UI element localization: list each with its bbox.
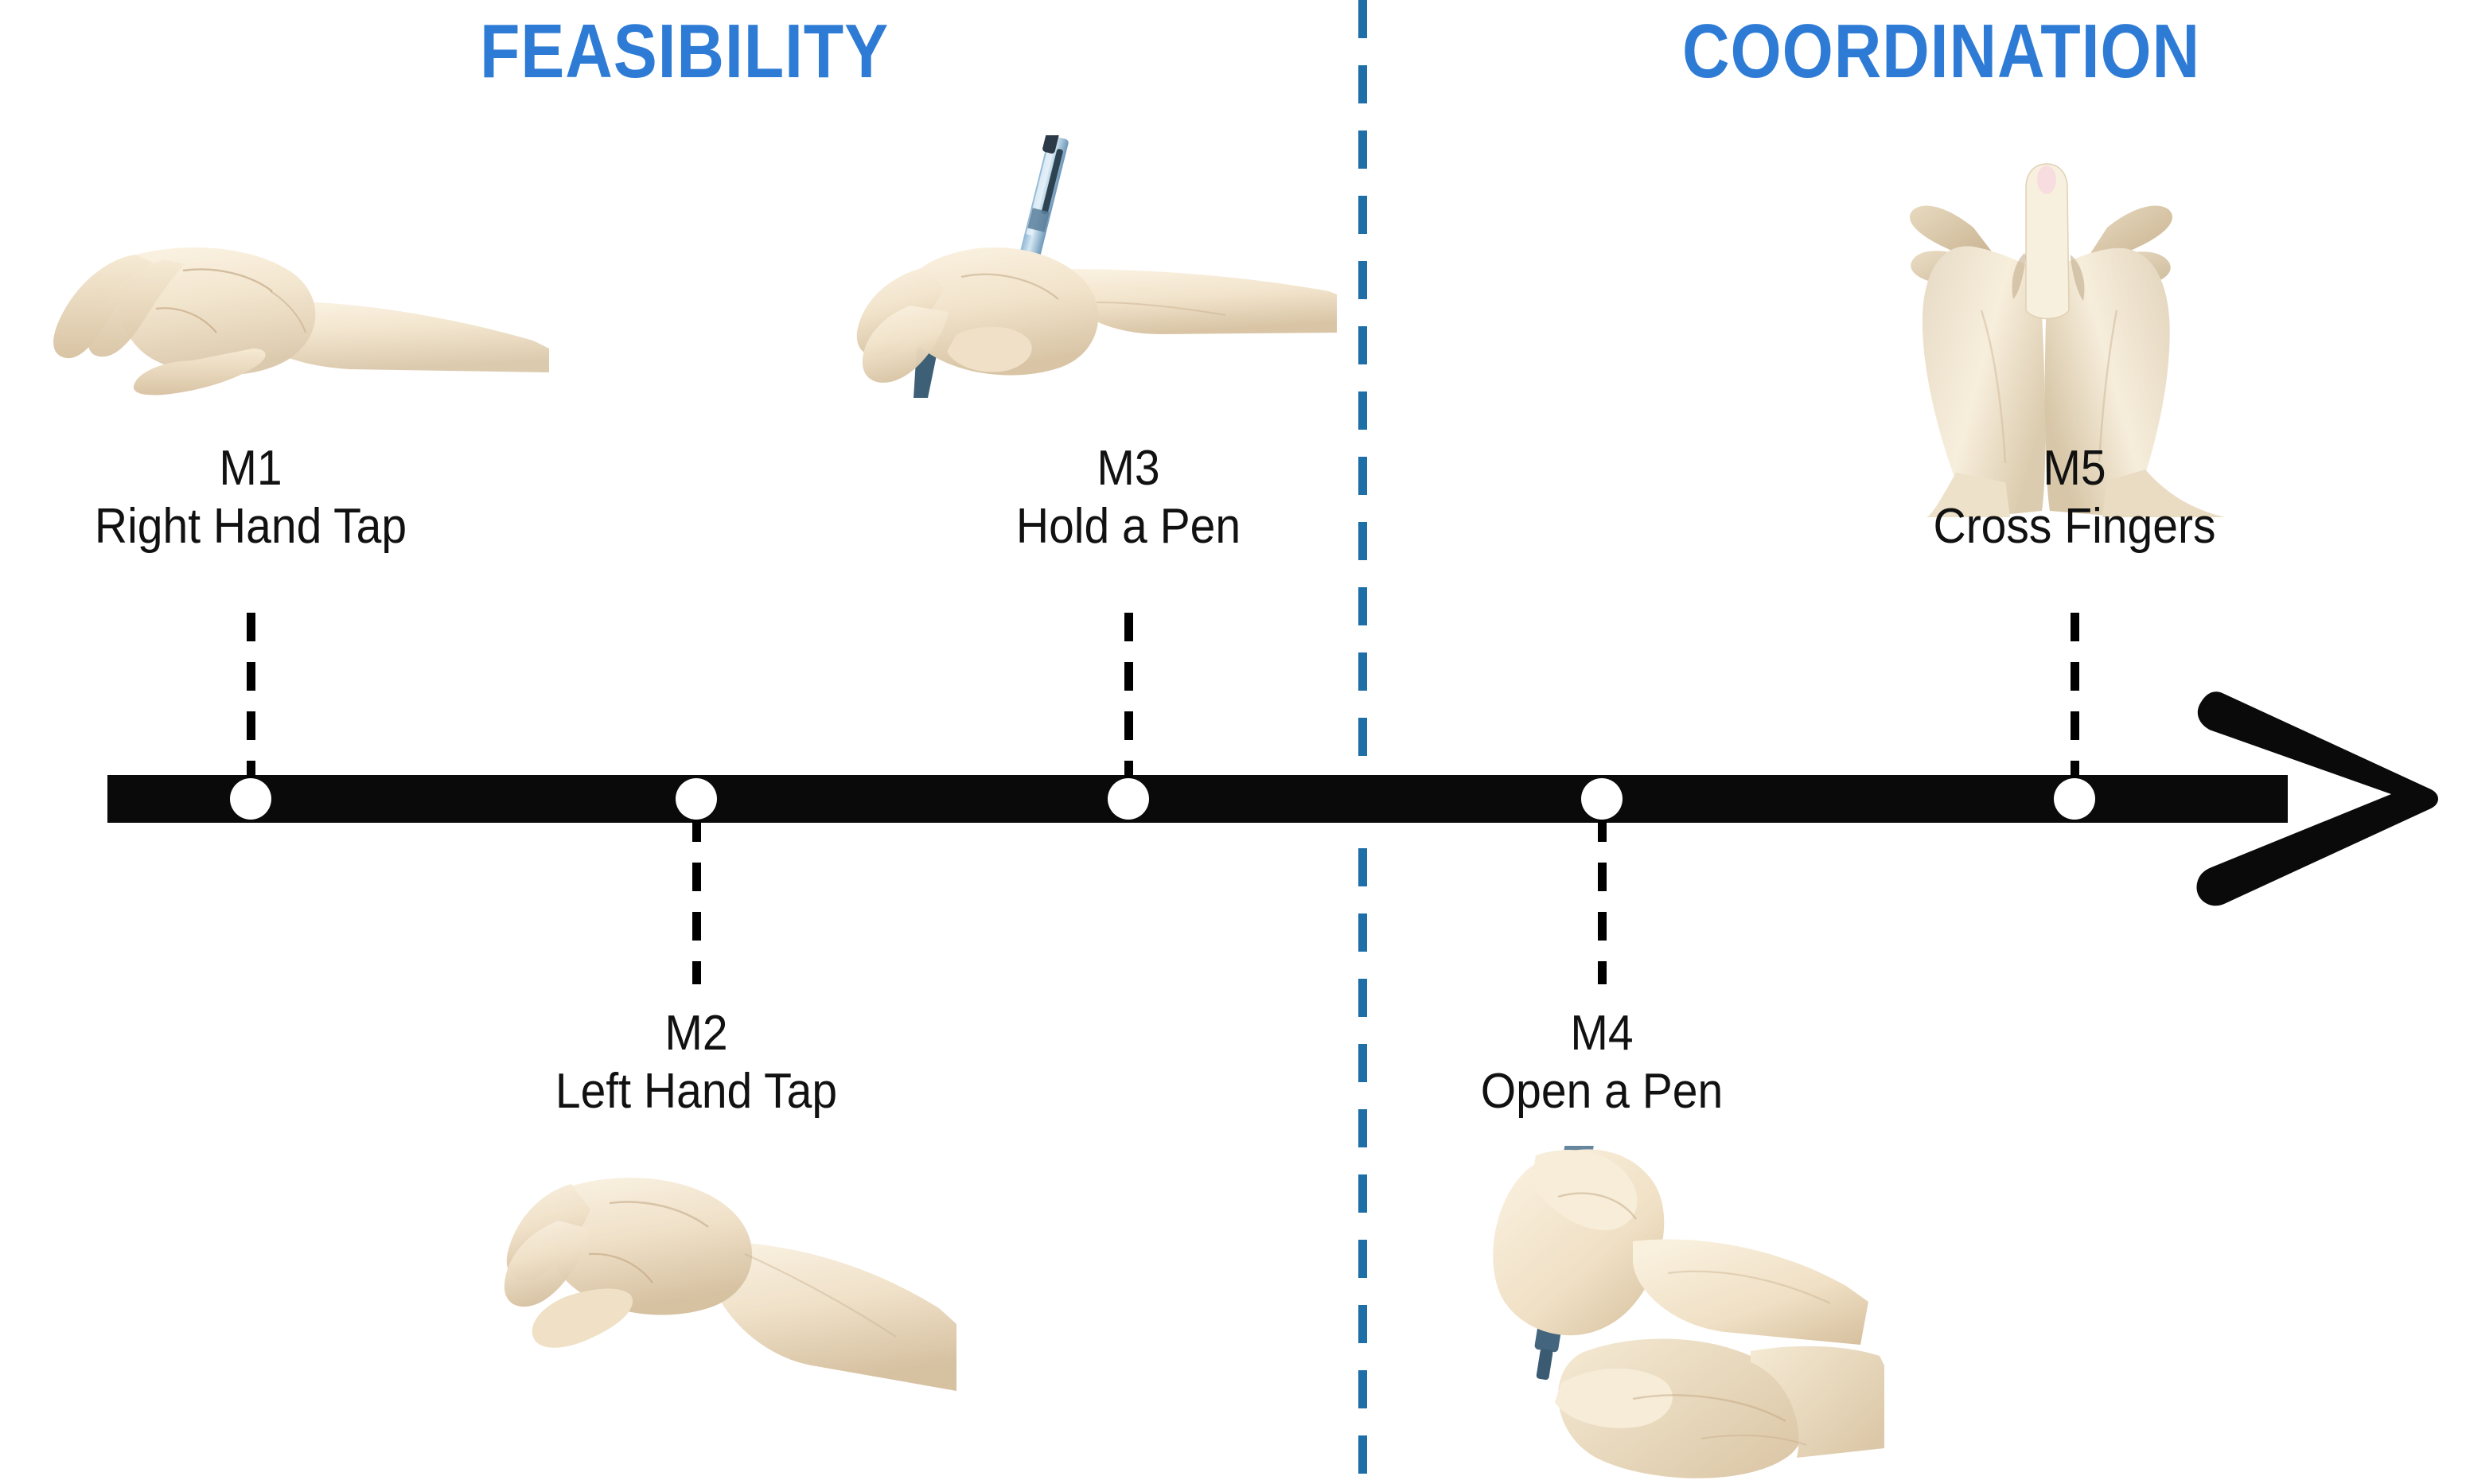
milestone-dot-m5[interactable] — [2054, 778, 2095, 820]
milestone-code-m3: M3 — [909, 439, 1348, 497]
milestone-name-m2: Left Hand Tap — [477, 1062, 916, 1120]
milestone-dot-m3[interactable] — [1108, 778, 1149, 820]
open-a-pen-photo — [1463, 1146, 1884, 1484]
timeline-figure: FEASIBILITY COORDINATION — [0, 0, 2466, 1484]
timeline-axis-bar — [107, 775, 2288, 823]
milestone-label-m2: M2 Left Hand Tap — [477, 1004, 916, 1120]
milestone-name-m5: Cross Fingers — [1855, 497, 2294, 555]
section-title-coordination: COORDINATION — [1490, 8, 2392, 95]
milestone-label-m5: M5 Cross Fingers — [1855, 439, 2294, 555]
milestone-name-m4: Open a Pen — [1382, 1062, 1821, 1120]
leader-line-m2 — [692, 813, 701, 984]
milestone-code-m5: M5 — [1855, 439, 2294, 497]
right-hand-tap-photo — [8, 213, 549, 396]
hold-a-pen-photo — [828, 135, 1337, 406]
milestone-dot-m4[interactable] — [1581, 778, 1623, 820]
section-divider-dashed-line — [1358, 0, 1367, 1484]
milestone-label-m4: M4 Open a Pen — [1382, 1004, 1821, 1120]
leader-line-m1 — [247, 613, 255, 784]
timeline-arrow-head-icon — [2192, 683, 2447, 915]
milestone-label-m1: M1 Right Hand Tap — [31, 439, 470, 555]
milestone-dot-m1[interactable] — [230, 778, 271, 820]
leader-line-m3 — [1124, 613, 1133, 784]
milestone-code-m1: M1 — [31, 439, 470, 497]
section-title-feasibility: FEASIBILITY — [95, 8, 1272, 95]
milestone-code-m2: M2 — [477, 1004, 916, 1062]
milestone-dot-m2[interactable] — [676, 778, 717, 820]
left-hand-tap-photo — [469, 1152, 963, 1484]
milestone-code-m4: M4 — [1382, 1004, 1821, 1062]
leader-line-m5 — [2071, 613, 2079, 784]
leader-line-m4 — [1598, 813, 1607, 984]
milestone-name-m3: Hold a Pen — [909, 497, 1348, 555]
milestone-name-m1: Right Hand Tap — [31, 497, 470, 555]
milestone-label-m3: M3 Hold a Pen — [909, 439, 1348, 555]
